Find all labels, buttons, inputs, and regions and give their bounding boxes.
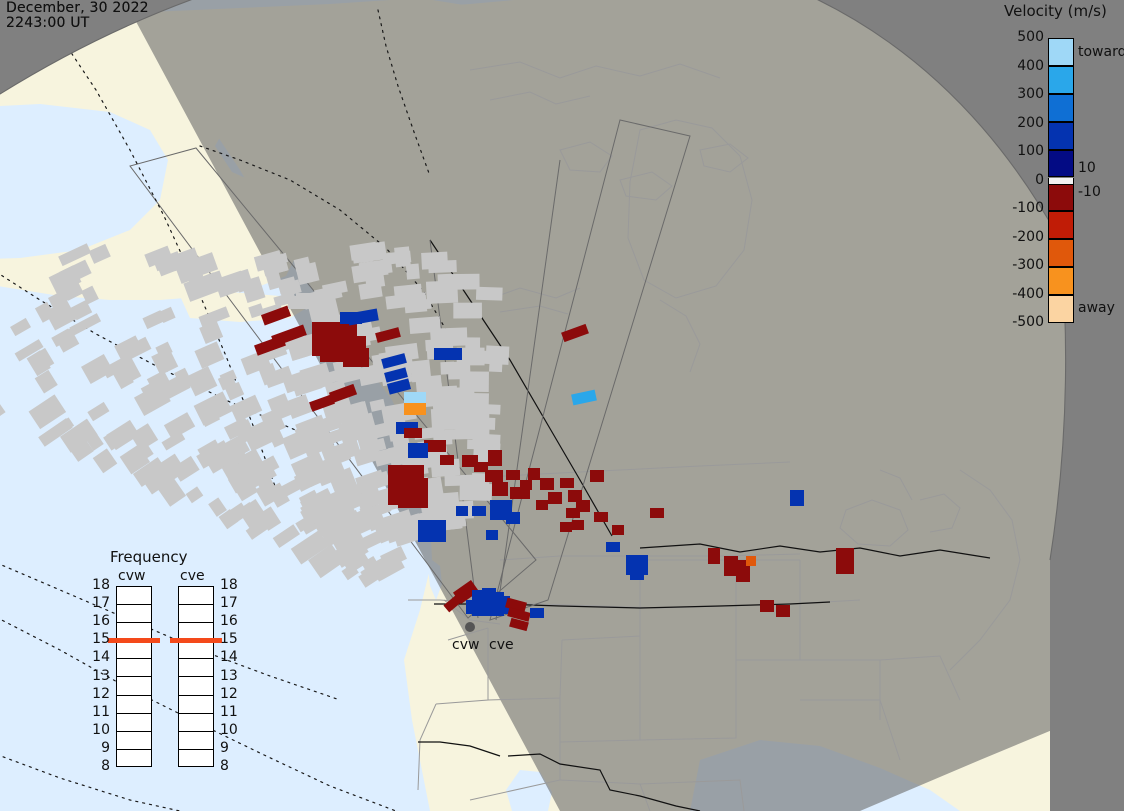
- velocity-cell: [776, 605, 790, 617]
- velocity-cell: [506, 470, 520, 480]
- colorbar-tick--400: -400: [1000, 286, 1044, 302]
- frequency-tick-cvw-15: 15: [88, 631, 110, 647]
- frequency-tick-cve-17: 17: [220, 595, 242, 611]
- frequency-cell: [117, 659, 151, 677]
- frequency-cell: [117, 714, 151, 732]
- frequency-tick-cvw-13: 13: [88, 668, 110, 684]
- velocity-cell: [343, 348, 369, 367]
- velocity-cell: [566, 508, 580, 518]
- velocity-cell: [548, 492, 562, 504]
- velocity-label-toward: toward: [1078, 44, 1124, 60]
- colorbar-segment-10-to-100: [1048, 150, 1074, 178]
- colorbar-segment--400-to-300: [1048, 267, 1074, 295]
- frequency-tick-cve-15: 15: [220, 631, 242, 647]
- colorbar-tick-100: 100: [1000, 143, 1044, 159]
- ground-scatter-cell: [440, 362, 454, 375]
- colorbar-tick--500: -500: [1000, 314, 1044, 330]
- radar-map-screenshot: December, 30 2022 2243:00 UT Velocity (m…: [0, 0, 1124, 811]
- timestamp: December, 30 2022 2243:00 UT: [6, 1, 149, 31]
- velocity-legend-title: Velocity (m/s): [1004, 2, 1107, 20]
- colorbar-tick-0: 0: [1000, 172, 1044, 188]
- velocity-cell: [418, 520, 446, 542]
- frequency-cell: [179, 750, 213, 768]
- ground-scatter-cell: [394, 246, 411, 267]
- velocity-cell: [606, 542, 620, 552]
- velocity-cell: [536, 500, 548, 510]
- frequency-cell: [179, 696, 213, 714]
- radar-site-label-cve: cve: [489, 637, 514, 653]
- frequency-cell: [117, 587, 151, 605]
- frequency-tick-cvw-18: 18: [88, 577, 110, 593]
- colorbar-tick-200: 200: [1000, 115, 1044, 131]
- frequency-legend: Frequency cvw18171615141312111098cve1817…: [92, 548, 237, 778]
- ground-scatter-cell: [433, 327, 467, 346]
- frequency-marker-cvw: [108, 638, 160, 643]
- velocity-cell: [650, 508, 664, 518]
- velocity-cell: [404, 428, 422, 438]
- frequency-tick-cvw-16: 16: [88, 613, 110, 629]
- frequency-column-label-cve: cve: [180, 568, 205, 584]
- ground-scatter-cell: [406, 264, 420, 280]
- colorbar-tick-500: 500: [1000, 29, 1044, 45]
- velocity-cell: [506, 512, 520, 524]
- velocity-cell: [590, 470, 604, 482]
- velocity-cell: [520, 480, 532, 490]
- ground-scatter-cell: [438, 274, 453, 290]
- velocity-cell: [724, 556, 738, 576]
- velocity-cell: [485, 470, 503, 482]
- ground-scatter-cell: [459, 483, 492, 501]
- frequency-bar-cve[interactable]: [178, 586, 214, 767]
- frequency-tick-cve-16: 16: [220, 613, 242, 629]
- velocity-cell: [488, 450, 502, 466]
- radar-site-dot: [465, 622, 475, 632]
- velocity-cell: [560, 478, 574, 488]
- colorbar-tick-300: 300: [1000, 86, 1044, 102]
- frequency-tick-cvw-8: 8: [88, 758, 110, 774]
- velocity-cell: [612, 525, 624, 535]
- velocity-cell: [404, 392, 426, 404]
- frequency-cell: [179, 678, 213, 696]
- frequency-tick-cvw-9: 9: [88, 740, 110, 756]
- frequency-column-label-cvw: cvw: [118, 568, 145, 584]
- velocity-cell: [528, 468, 540, 480]
- ground-scatter-cell: [476, 287, 503, 301]
- velocity-cell: [434, 348, 462, 360]
- velocity-cell: [708, 548, 720, 564]
- frequency-cell: [117, 641, 151, 659]
- frequency-tick-cvw-11: 11: [88, 704, 110, 720]
- frequency-cell: [117, 678, 151, 696]
- velocity-cell: [408, 443, 428, 458]
- timestamp-date: December, 30 2022: [6, 1, 149, 16]
- colorbar-segment-200-to-300: [1048, 94, 1074, 122]
- velocity-cell: [630, 566, 644, 580]
- ground-scatter-cell: [428, 260, 457, 273]
- ground-scatter-cell: [455, 419, 479, 431]
- colorbar-tick--100: -100: [1000, 200, 1044, 216]
- velocity-cell: [398, 478, 428, 508]
- velocity-cell: [790, 490, 804, 506]
- ground-scatter-cell: [453, 303, 482, 319]
- colorbar-segment-400-to-500: [1048, 38, 1074, 66]
- frequency-tick-cvw-14: 14: [88, 649, 110, 665]
- colorbar-tick--200: -200: [1000, 229, 1044, 245]
- colorbar-segment--500-to-400: [1048, 295, 1074, 323]
- frequency-cell: [179, 714, 213, 732]
- frequency-cell: [179, 732, 213, 750]
- colorbar-tick--300: -300: [1000, 257, 1044, 273]
- frequency-tick-cve-18: 18: [220, 577, 242, 593]
- frequency-tick-cve-11: 11: [220, 704, 242, 720]
- frequency-cell: [179, 659, 213, 677]
- colorbar-segment--200-to-100: [1048, 211, 1074, 239]
- colorbar-segment--100-to-10: [1048, 184, 1074, 212]
- velocity-label-away: away: [1078, 300, 1115, 316]
- frequency-tick-cve-14: 14: [220, 649, 242, 665]
- velocity-label-neg10: -10: [1078, 184, 1101, 200]
- velocity-cell: [540, 478, 554, 490]
- ground-scatter-cell: [426, 383, 443, 394]
- velocity-cell: [530, 608, 544, 618]
- velocity-cell: [560, 522, 572, 532]
- frequency-tick-cve-9: 9: [220, 740, 242, 756]
- ground-scatter-cell: [465, 337, 480, 359]
- velocity-cell: [404, 403, 426, 415]
- frequency-tick-cve-10: 10: [220, 722, 242, 738]
- ground-scatter-cell: [489, 357, 503, 372]
- frequency-cell: [179, 587, 213, 605]
- velocity-legend: Velocity (m/s) 5004003002001000-100-200-…: [1000, 0, 1124, 330]
- velocity-cell: [440, 455, 454, 465]
- velocity-colorbar[interactable]: [1048, 38, 1074, 323]
- frequency-tick-cvw-17: 17: [88, 595, 110, 611]
- colorbar-segment--300-to-200: [1048, 239, 1074, 267]
- ground-scatter-cell: [385, 294, 408, 309]
- frequency-cell: [117, 750, 151, 768]
- frequency-tick-cve-13: 13: [220, 668, 242, 684]
- radar-site-label-cvw: cvw: [452, 637, 479, 653]
- frequency-tick-cvw-12: 12: [88, 686, 110, 702]
- ground-scatter-cell: [444, 475, 478, 487]
- velocity-cell: [760, 600, 774, 612]
- velocity-label-pos10: 10: [1078, 160, 1096, 176]
- colorbar-tick-400: 400: [1000, 58, 1044, 74]
- velocity-cell: [572, 520, 584, 530]
- velocity-cell: [466, 600, 476, 614]
- frequency-cell: [179, 605, 213, 623]
- frequency-cell: [117, 605, 151, 623]
- frequency-tick-cve-8: 8: [220, 758, 242, 774]
- velocity-cell: [296, 293, 316, 305]
- velocity-cell: [836, 548, 854, 574]
- velocity-cell: [492, 482, 508, 496]
- colorbar-segment-100-to-200: [1048, 122, 1074, 150]
- velocity-cell: [340, 312, 362, 324]
- frequency-cell: [117, 732, 151, 750]
- timestamp-time: 2243:00 UT: [6, 16, 149, 31]
- velocity-cell: [746, 556, 756, 566]
- frequency-cell: [117, 696, 151, 714]
- velocity-cell: [472, 506, 486, 516]
- frequency-marker-cve: [170, 638, 222, 643]
- frequency-tick-cvw-10: 10: [88, 722, 110, 738]
- frequency-tick-cve-12: 12: [220, 686, 242, 702]
- velocity-cell: [486, 530, 498, 540]
- frequency-bar-cvw[interactable]: [116, 586, 152, 767]
- frequency-cell: [179, 641, 213, 659]
- colorbar-segment-300-to-400: [1048, 66, 1074, 94]
- velocity-cell: [594, 512, 608, 522]
- velocity-cell: [456, 506, 468, 516]
- frequency-legend-title: Frequency: [110, 548, 188, 566]
- ground-scatter-cell: [410, 360, 431, 383]
